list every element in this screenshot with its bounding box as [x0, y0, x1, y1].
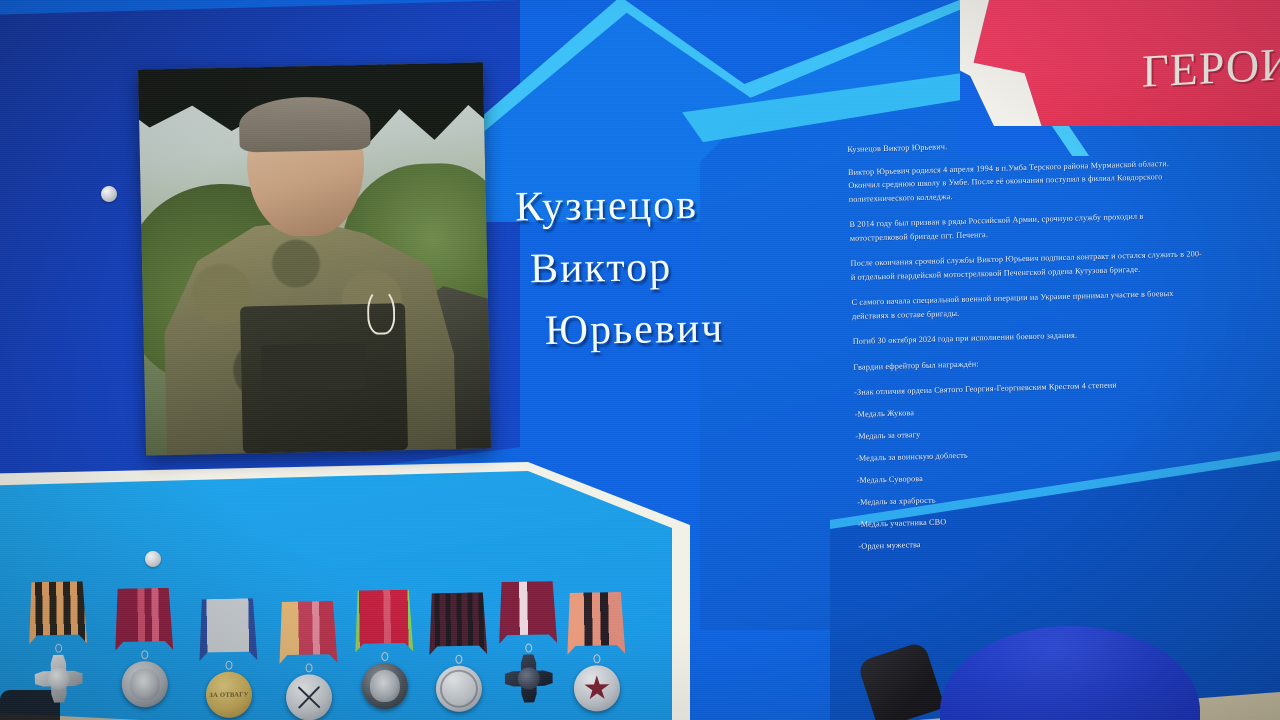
medal-face-text: ЗА ОТВАГУ: [209, 691, 248, 699]
photo-armor-pouch: [261, 343, 365, 391]
medal-portrait-relief: [130, 668, 160, 700]
name-line-firstname: Виктор: [530, 236, 724, 301]
portrait-photo: [138, 62, 491, 455]
mount-screw-icon: [101, 186, 117, 202]
medal-link-ring: [55, 644, 62, 653]
medal-link-ring: [593, 654, 600, 663]
medal-medal-suvorova: [351, 589, 417, 709]
medal-cross-center: [48, 668, 69, 689]
medal-medal-voinskaya-doblest: [275, 601, 341, 720]
bio-paragraph-4: С самого начала специальной военной опер…: [851, 286, 1204, 323]
medal-face: ЗА ОТВАГУ: [206, 671, 253, 718]
medal-link-ring: [381, 652, 388, 661]
medal-star-relief: [584, 675, 610, 701]
award-item: -Медаль Жукова: [855, 398, 1207, 421]
medal-ribbon: [278, 601, 337, 664]
medal-link-ring: [225, 661, 232, 670]
medal-face: [34, 654, 83, 703]
name-line-patronymic: Юрьевич: [544, 298, 724, 362]
medal-ribbon: [198, 598, 257, 661]
award-item: -Знак отличия ордена Святого Георгия-Гео…: [854, 376, 1206, 399]
medal-face: [361, 663, 408, 710]
biography-text-block: Кузнецов Виктор Юрьевич. Виктор Юрьевич …: [847, 133, 1211, 562]
award-item: -Медаль за храбрость: [857, 486, 1209, 509]
medal-georgievsky-cross: [25, 581, 91, 703]
medals-display-row: ЗА ОТВАГУ: [7, 546, 650, 720]
award-item: -Медаль участника СВО: [858, 508, 1210, 531]
medal-link-ring: [141, 650, 148, 659]
medal-cross-center: [518, 668, 539, 689]
medal-link-ring: [305, 663, 312, 672]
medal-medal-zhukova: [111, 588, 177, 708]
medal-face: [504, 654, 553, 703]
name-line-surname: Кузнецов: [515, 174, 723, 239]
medal-face: [121, 661, 168, 708]
medal-face: [574, 665, 621, 712]
medal-ribbon: [566, 592, 625, 655]
awards-list: -Знак отличия ордена Святого Георгия-Гео…: [854, 376, 1211, 553]
memorial-name: Кузнецов Виктор Юрьевич: [515, 174, 725, 363]
memorial-board-scene: ГЕРОИЧ Кузнецов Виктор Юрьевич Кузнецов …: [0, 0, 1280, 720]
bio-paragraph-3: После окончания срочной службы Виктор Юр…: [850, 247, 1203, 284]
medal-orden-muzhestva: [563, 592, 629, 712]
award-item: -Орден мужества: [858, 530, 1210, 553]
medal-face: [436, 665, 483, 712]
medal-medal-za-hrabrost: [495, 581, 561, 703]
banner-heading: ГЕРОИЧ: [1142, 35, 1280, 98]
awards-intro: Гвардии ефрейтор был награждён:: [853, 351, 1205, 374]
medal-medal-za-otvagu: ЗА ОТВАГУ: [195, 598, 261, 718]
medal-link-ring: [455, 655, 462, 664]
award-item: -Медаль Суворова: [856, 464, 1208, 487]
medal-ribbon: [28, 581, 87, 644]
medal-face: [286, 674, 333, 720]
bio-paragraph-5: Погиб 30 октября 2024 года при исполнени…: [853, 325, 1205, 348]
bio-paragraph-2: В 2014 году был призван в ряды Российско…: [849, 208, 1202, 245]
award-item: -Медаль за воинскую доблесть: [856, 442, 1208, 465]
award-item: -Медаль за отвагу: [855, 420, 1207, 443]
medal-ribbon: [428, 592, 487, 655]
medal-medal-uchastnika-svo: [425, 592, 491, 712]
medal-ribbon: [354, 590, 413, 653]
medal-wreath-relief: [439, 669, 478, 708]
medal-ribbon: [498, 581, 557, 644]
medal-portrait-relief: [370, 670, 400, 702]
photo-carabiner-icon: [367, 288, 396, 335]
medal-link-ring: [525, 643, 532, 652]
medal-ribbon: [114, 588, 173, 651]
bio-paragraph-1: Виктор Юрьевич родился 4 апреля 1994 в п…: [848, 156, 1201, 206]
medal-crossed-swords-icon: [288, 676, 330, 718]
